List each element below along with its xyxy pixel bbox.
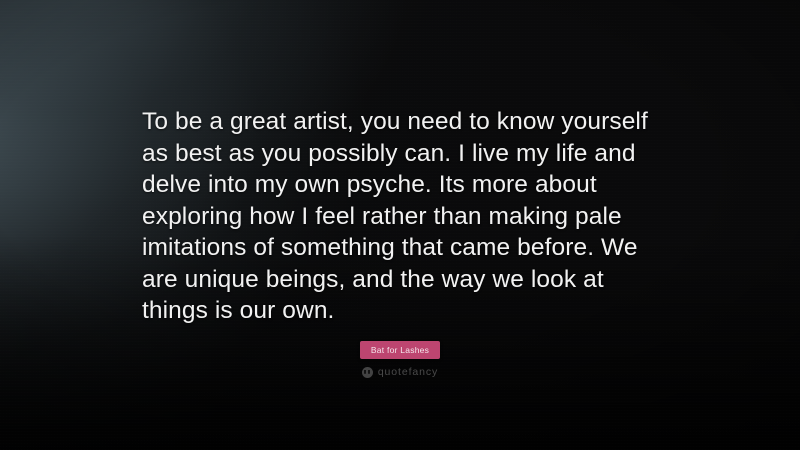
watermark[interactable]: quotefancy <box>0 366 800 378</box>
quote-text: To be a great artist, you need to know y… <box>142 106 658 327</box>
watermark-label: quotefancy <box>378 366 438 378</box>
quote-wallpaper: To be a great artist, you need to know y… <box>0 0 800 450</box>
wallpaper-content: To be a great artist, you need to know y… <box>0 0 800 450</box>
quote-bubble-icon <box>362 367 373 378</box>
author-badge[interactable]: Bat for Lashes <box>360 341 440 360</box>
